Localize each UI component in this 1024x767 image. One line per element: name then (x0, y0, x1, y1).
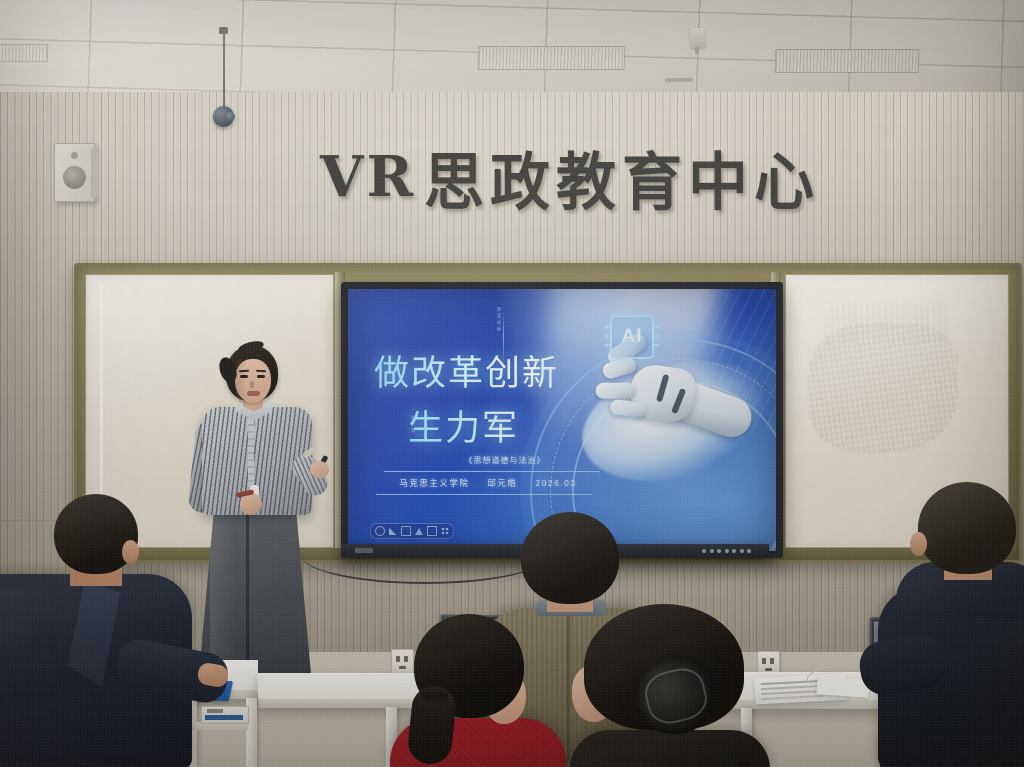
presenter-eye-left (240, 375, 248, 378)
slide-thumbnail-icon[interactable] (401, 526, 411, 536)
speaker-tweeter (71, 152, 78, 159)
desk-label-bar (205, 715, 243, 720)
speaker-side (91, 148, 98, 199)
attendee-ear (910, 532, 927, 556)
wall-sign-latin: VR (320, 144, 416, 210)
presenter-mouth (247, 391, 260, 396)
display-button[interactable] (717, 549, 721, 553)
wall-sensor-icon (226, 112, 235, 121)
wall-sign: VR 思政教育中心 (310, 138, 830, 216)
laser-pointer-icon[interactable] (389, 527, 397, 535)
slide-title: 做改革创新 生力军 (374, 345, 624, 451)
ceiling-mic-rod (223, 30, 225, 112)
attendee-head (918, 482, 1016, 574)
attendee-hoodie-man (900, 482, 1024, 767)
attendee-red-top (400, 614, 558, 767)
slide-title-line-2: 生力军 (408, 400, 624, 451)
ceiling-shading (0, 0, 1024, 96)
slide-title-line-1: 做改革创新 (374, 345, 624, 396)
attendee-hair-tie (422, 692, 448, 701)
attendee-sweater-seam (567, 612, 570, 762)
presenter-right-hand (310, 461, 329, 478)
byline-date: 2026.03 (535, 478, 576, 488)
classroom-photo: VR 思政教育中心 (0, 0, 1024, 767)
attendee-top (570, 730, 770, 767)
display-button[interactable] (747, 549, 751, 553)
slide-vertical-accent-1: 改革创新 (496, 307, 502, 333)
slide-byline: 马克思主义学院 邱元皓 2026.03 (376, 471, 600, 495)
display-button[interactable] (710, 549, 714, 553)
attendee-hair-bow (576, 604, 766, 767)
ceiling (0, 0, 1024, 96)
byline-institution: 马克思主义学院 (399, 477, 469, 489)
more-options-icon[interactable] (441, 527, 449, 535)
presentation-toolbar[interactable] (370, 523, 454, 539)
presenter-view-icon[interactable] (427, 526, 437, 536)
zoom-tool-icon[interactable] (415, 528, 423, 535)
pen-tool-icon[interactable] (375, 526, 385, 536)
display-button[interactable] (702, 549, 706, 553)
presenter-skirt-pleat (246, 513, 249, 681)
presenter-eye-right (257, 375, 265, 378)
attendee-suit-man (0, 494, 210, 767)
display-button[interactable] (732, 549, 736, 553)
slide-subtitle: 《思想道德与法治》 (410, 455, 600, 466)
presenter-face-shadow (235, 359, 247, 403)
presenter-nose (250, 381, 254, 388)
attendee-head (521, 512, 619, 604)
wall-sign-chinese: 思政教育中心 (424, 132, 820, 222)
attendee-shoulder (0, 590, 56, 648)
display-button[interactable] (725, 549, 729, 553)
display-button[interactable] (740, 549, 744, 553)
ai-chip-label: AI (622, 326, 643, 348)
attendee-ear (122, 540, 139, 564)
wall-speaker-icon (54, 143, 95, 202)
speaker-cone (63, 166, 86, 189)
display-control-buttons[interactable] (702, 549, 751, 553)
byline-presenter: 邱元皓 (487, 477, 517, 489)
